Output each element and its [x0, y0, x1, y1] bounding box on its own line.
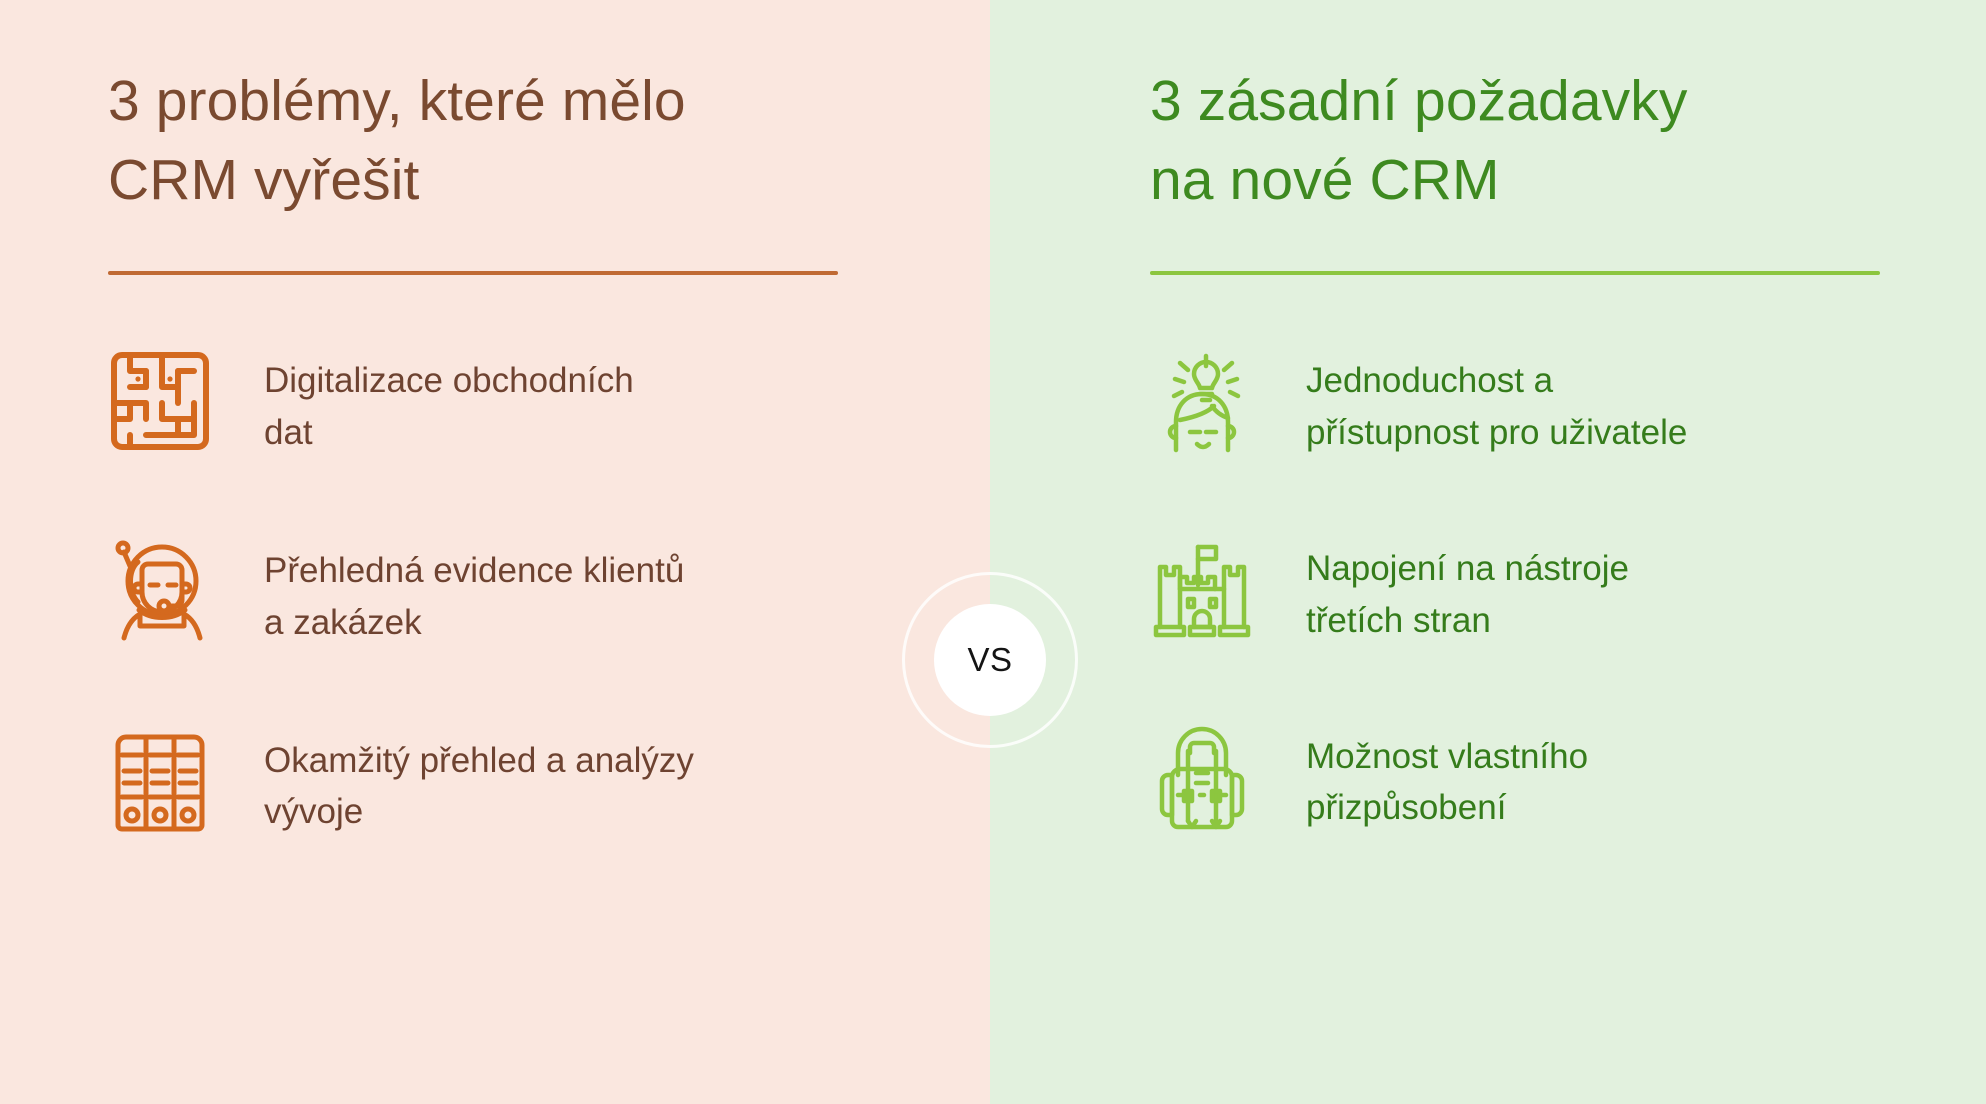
- castle-icon: [1150, 537, 1254, 641]
- comparison-infographic: 3 problémy, které mělo CRM vyřešit: [0, 0, 1986, 1104]
- head-lightbulb-icon: [1150, 349, 1254, 453]
- vs-badge: VS: [902, 572, 1078, 748]
- vs-badge-label: VS: [934, 604, 1046, 716]
- right-panel-heading: 3 zásadní požadavky na nové CRM: [1150, 62, 1986, 219]
- list-item-label: Napojení na nástroje třetích stran: [1306, 537, 1629, 647]
- list-item-label: Možnost vlastního přizpůsobení: [1306, 725, 1588, 835]
- list-item: Jednoduchost a přístupnost pro uživatele: [1150, 349, 1986, 459]
- left-panel-list: Digitalizace obchodních dat: [108, 349, 990, 918]
- left-panel-heading: 3 problémy, které mělo CRM vyřešit: [108, 62, 990, 219]
- maze-icon: [108, 349, 212, 453]
- list-item-label: Přehledná evidence klientů a zakázek: [264, 539, 684, 649]
- list-item: Napojení na nástroje třetích stran: [1150, 537, 1986, 647]
- left-panel: 3 problémy, které mělo CRM vyřešit: [0, 0, 990, 1104]
- left-panel-divider: [108, 271, 838, 275]
- astronaut-icon: [108, 539, 212, 643]
- right-panel-list: Jednoduchost a přístupnost pro uživatele: [1150, 349, 1986, 912]
- right-panel-divider: [1150, 271, 1880, 275]
- backpack-icon: [1150, 725, 1254, 829]
- right-panel: 3 zásadní požadavky na nové CRM: [990, 0, 1986, 1104]
- list-item: Okamžitý přehled a analýzy vývoje: [108, 729, 990, 839]
- list-item-label: Okamžitý přehled a analýzy vývoje: [264, 729, 694, 839]
- list-item: Digitalizace obchodních dat: [108, 349, 990, 459]
- list-item: Možnost vlastního přizpůsobení: [1150, 725, 1986, 835]
- binders-icon: [108, 729, 212, 833]
- list-item-label: Jednoduchost a přístupnost pro uživatele: [1306, 349, 1687, 459]
- list-item: Přehledná evidence klientů a zakázek: [108, 539, 990, 649]
- list-item-label: Digitalizace obchodních dat: [264, 349, 634, 459]
